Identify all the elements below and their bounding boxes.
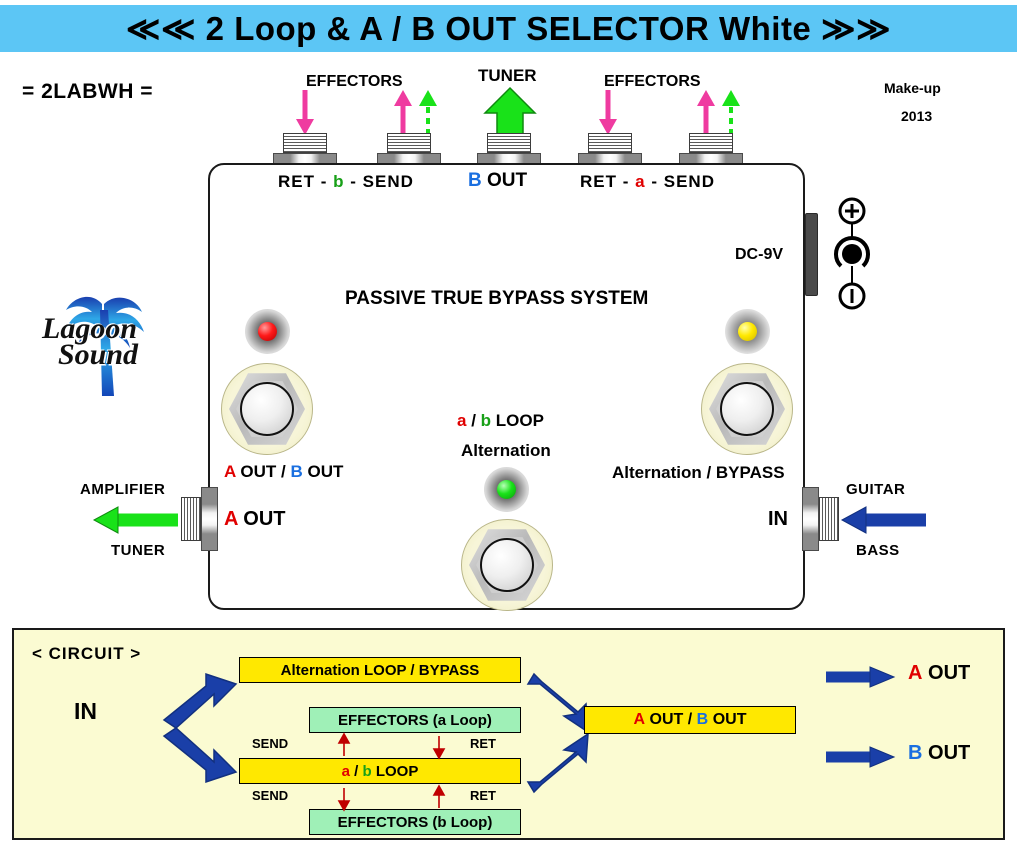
page-title: ≪≪ 2 Loop & A / B OUT SELECTOR White ≫≫ [126,9,891,48]
makeup-label: Make-up [884,80,941,96]
arrow-down-pink-ret-b [296,90,314,135]
circuit-box-a-out-b-out: A OUT / B OUT [584,706,796,734]
arrow-down-right-merge [528,674,588,732]
footswitch-a-b-out[interactable] [221,363,313,455]
power-polarity-icon [828,196,876,312]
circuit-label-a-out: A OUT [908,662,970,685]
top-signal-arrows [260,88,730,138]
label-tuner-out: TUNER [111,542,165,559]
letter-b: B [697,711,709,729]
label-ret-a-send: RET - a - SEND [580,172,715,192]
letter-b: b [363,763,372,780]
out-text: OUT [243,508,285,530]
jack-thread [181,497,201,541]
circuit-title: < CIRCUIT > [32,644,141,664]
circuit-box-ab-loop: a / b LOOP [239,758,521,784]
footswitch-hex-inner [476,534,538,596]
arrow-up-right [164,674,236,728]
circuit-loop-b-arrows [334,786,464,810]
jack-thread [819,497,839,541]
letter-a: A [224,462,236,481]
footswitch-button[interactable] [480,538,534,592]
label-bass: BASS [856,542,900,559]
circuit-box-alternation-loop: Alternation LOOP / BYPASS [239,657,521,683]
footswitch-hex-inner [716,378,778,440]
circuit-loop-a-arrows [334,734,464,758]
circuit-ret-b-label: RET [470,788,496,803]
out-text: OUT [713,711,747,729]
circuit-box-effectors-a: EFFECTORS (a Loop) [309,707,521,733]
arrow-up-green-dashed-send-a [722,90,740,135]
jack-input[interactable] [802,487,839,551]
arrow-up-right-merge [528,734,588,792]
label-ab-loop: a / b LOOP [457,411,544,431]
loop-letter-a: a [635,172,645,191]
jack-thread [283,133,327,153]
dash: - [651,172,658,191]
arrow-down-pink-ret-a [599,90,617,135]
led-bulb [258,322,277,341]
footswitch-button[interactable] [240,382,294,436]
brand-logo: Lagoon Sound [40,280,170,400]
arrow-down-ret-a [434,749,444,758]
letter-b: B [290,462,302,481]
arrow-up-send-a [339,734,349,743]
letter-b: B [908,742,922,765]
out-text: OUT [307,462,343,481]
dash: - [350,172,357,191]
label-in-jack: IN [768,508,788,531]
out-text: OUT [487,170,527,191]
circuit-send-a-label: SEND [252,736,288,751]
led-bulb [497,480,516,499]
jack-nut [201,487,218,551]
makeup-year: 2013 [901,108,932,124]
loop-word: LOOP [376,763,419,780]
circuit-box-effectors-b: EFFECTORS (b Loop) [309,809,521,835]
arrow-up-green-tuner [485,88,535,136]
out-text: OUT [928,662,970,685]
letter-a: A [908,662,922,685]
led-alternation-bypass [725,309,770,354]
arrow-up-pink-send-b [394,90,412,135]
jack-nut [802,487,819,551]
jack-thread [588,133,632,153]
label-guitar: GUITAR [846,481,905,498]
jack-thread [387,133,431,153]
label-alternation-bypass: Alternation / BYPASS [612,463,785,483]
letter-a: a [457,411,466,430]
arrow-left-blue-input [842,505,928,535]
dash: - [623,172,630,191]
send-text: SEND [664,172,715,191]
arrow-up-green-dashed-send-b [419,90,437,135]
footswitch-hex-nut [229,371,305,447]
arrow-up-ret-b [434,786,444,795]
arrow-up-pink-send-a [697,90,715,135]
arrow-left-green-amp-out [92,505,178,535]
footswitch-hex-inner [236,378,298,440]
send-text: SEND [363,172,414,191]
arrow-down-right [164,728,236,782]
footswitch-hex-nut [469,527,545,603]
ret-text: RET [278,172,315,191]
circuit-send-b-label: SEND [252,788,288,803]
label-a-out-b-out: A OUT / B OUT [224,462,343,482]
led-ab-loop [484,467,529,512]
label-a-out-jack: A OUT [224,508,285,531]
letter-a: a [342,763,350,780]
circuit-label-b-out: B OUT [908,742,970,765]
label-b-out: B OUT [468,170,527,192]
footswitch-button[interactable] [720,382,774,436]
led-bulb [738,322,757,341]
circuit-in-label: IN [74,698,97,725]
ret-text: RET [580,172,617,191]
slash: / [354,763,358,780]
circuit-diagram-panel: < CIRCUIT > IN Alternation LOOP / BYPASS… [12,628,1005,840]
label-amplifier: AMPLIFIER [80,481,165,498]
footswitch-alternation-bypass[interactable] [701,363,793,455]
tuner-top-label: TUNER [478,66,537,86]
loop-letter-b: b [333,172,344,191]
model-code-label: = 2LABWH = [22,80,153,104]
bypass-system-label: PASSIVE TRUE BYPASS SYSTEM [345,288,648,310]
brand-name-line2: Sound [58,338,138,372]
slash: / [471,411,476,430]
letter-a: A [224,508,238,530]
circuit-ret-a-label: RET [470,736,496,751]
label-ret-b-send: RET - b - SEND [278,172,414,192]
footswitch-ab-loop[interactable] [461,519,553,611]
dc-power-jack[interactable] [805,213,818,296]
title-bar: ≪≪ 2 Loop & A / B OUT SELECTOR White ≫≫ [0,5,1017,52]
led-a-out [245,309,290,354]
circuit-merge-arrows [526,670,636,800]
dash: - [321,172,328,191]
out-letter-b: B [468,170,482,191]
dc-voltage-label: DC-9V [735,246,783,264]
circuit-arrow-a-out [826,666,898,688]
out-slash: OUT / [650,711,693,729]
jack-thread [487,133,531,153]
letter-b: b [481,411,491,430]
jack-a-out[interactable] [181,487,218,551]
out-slash: OUT / [240,462,285,481]
footswitch-hex-nut [709,371,785,447]
label-alternation: Alternation [461,441,551,461]
circuit-arrow-b-out [826,746,898,768]
jack-thread [689,133,733,153]
out-text: OUT [928,742,970,765]
loop-word: LOOP [496,411,544,430]
arrow-down-send-b [339,801,349,810]
letter-a: A [634,711,646,729]
